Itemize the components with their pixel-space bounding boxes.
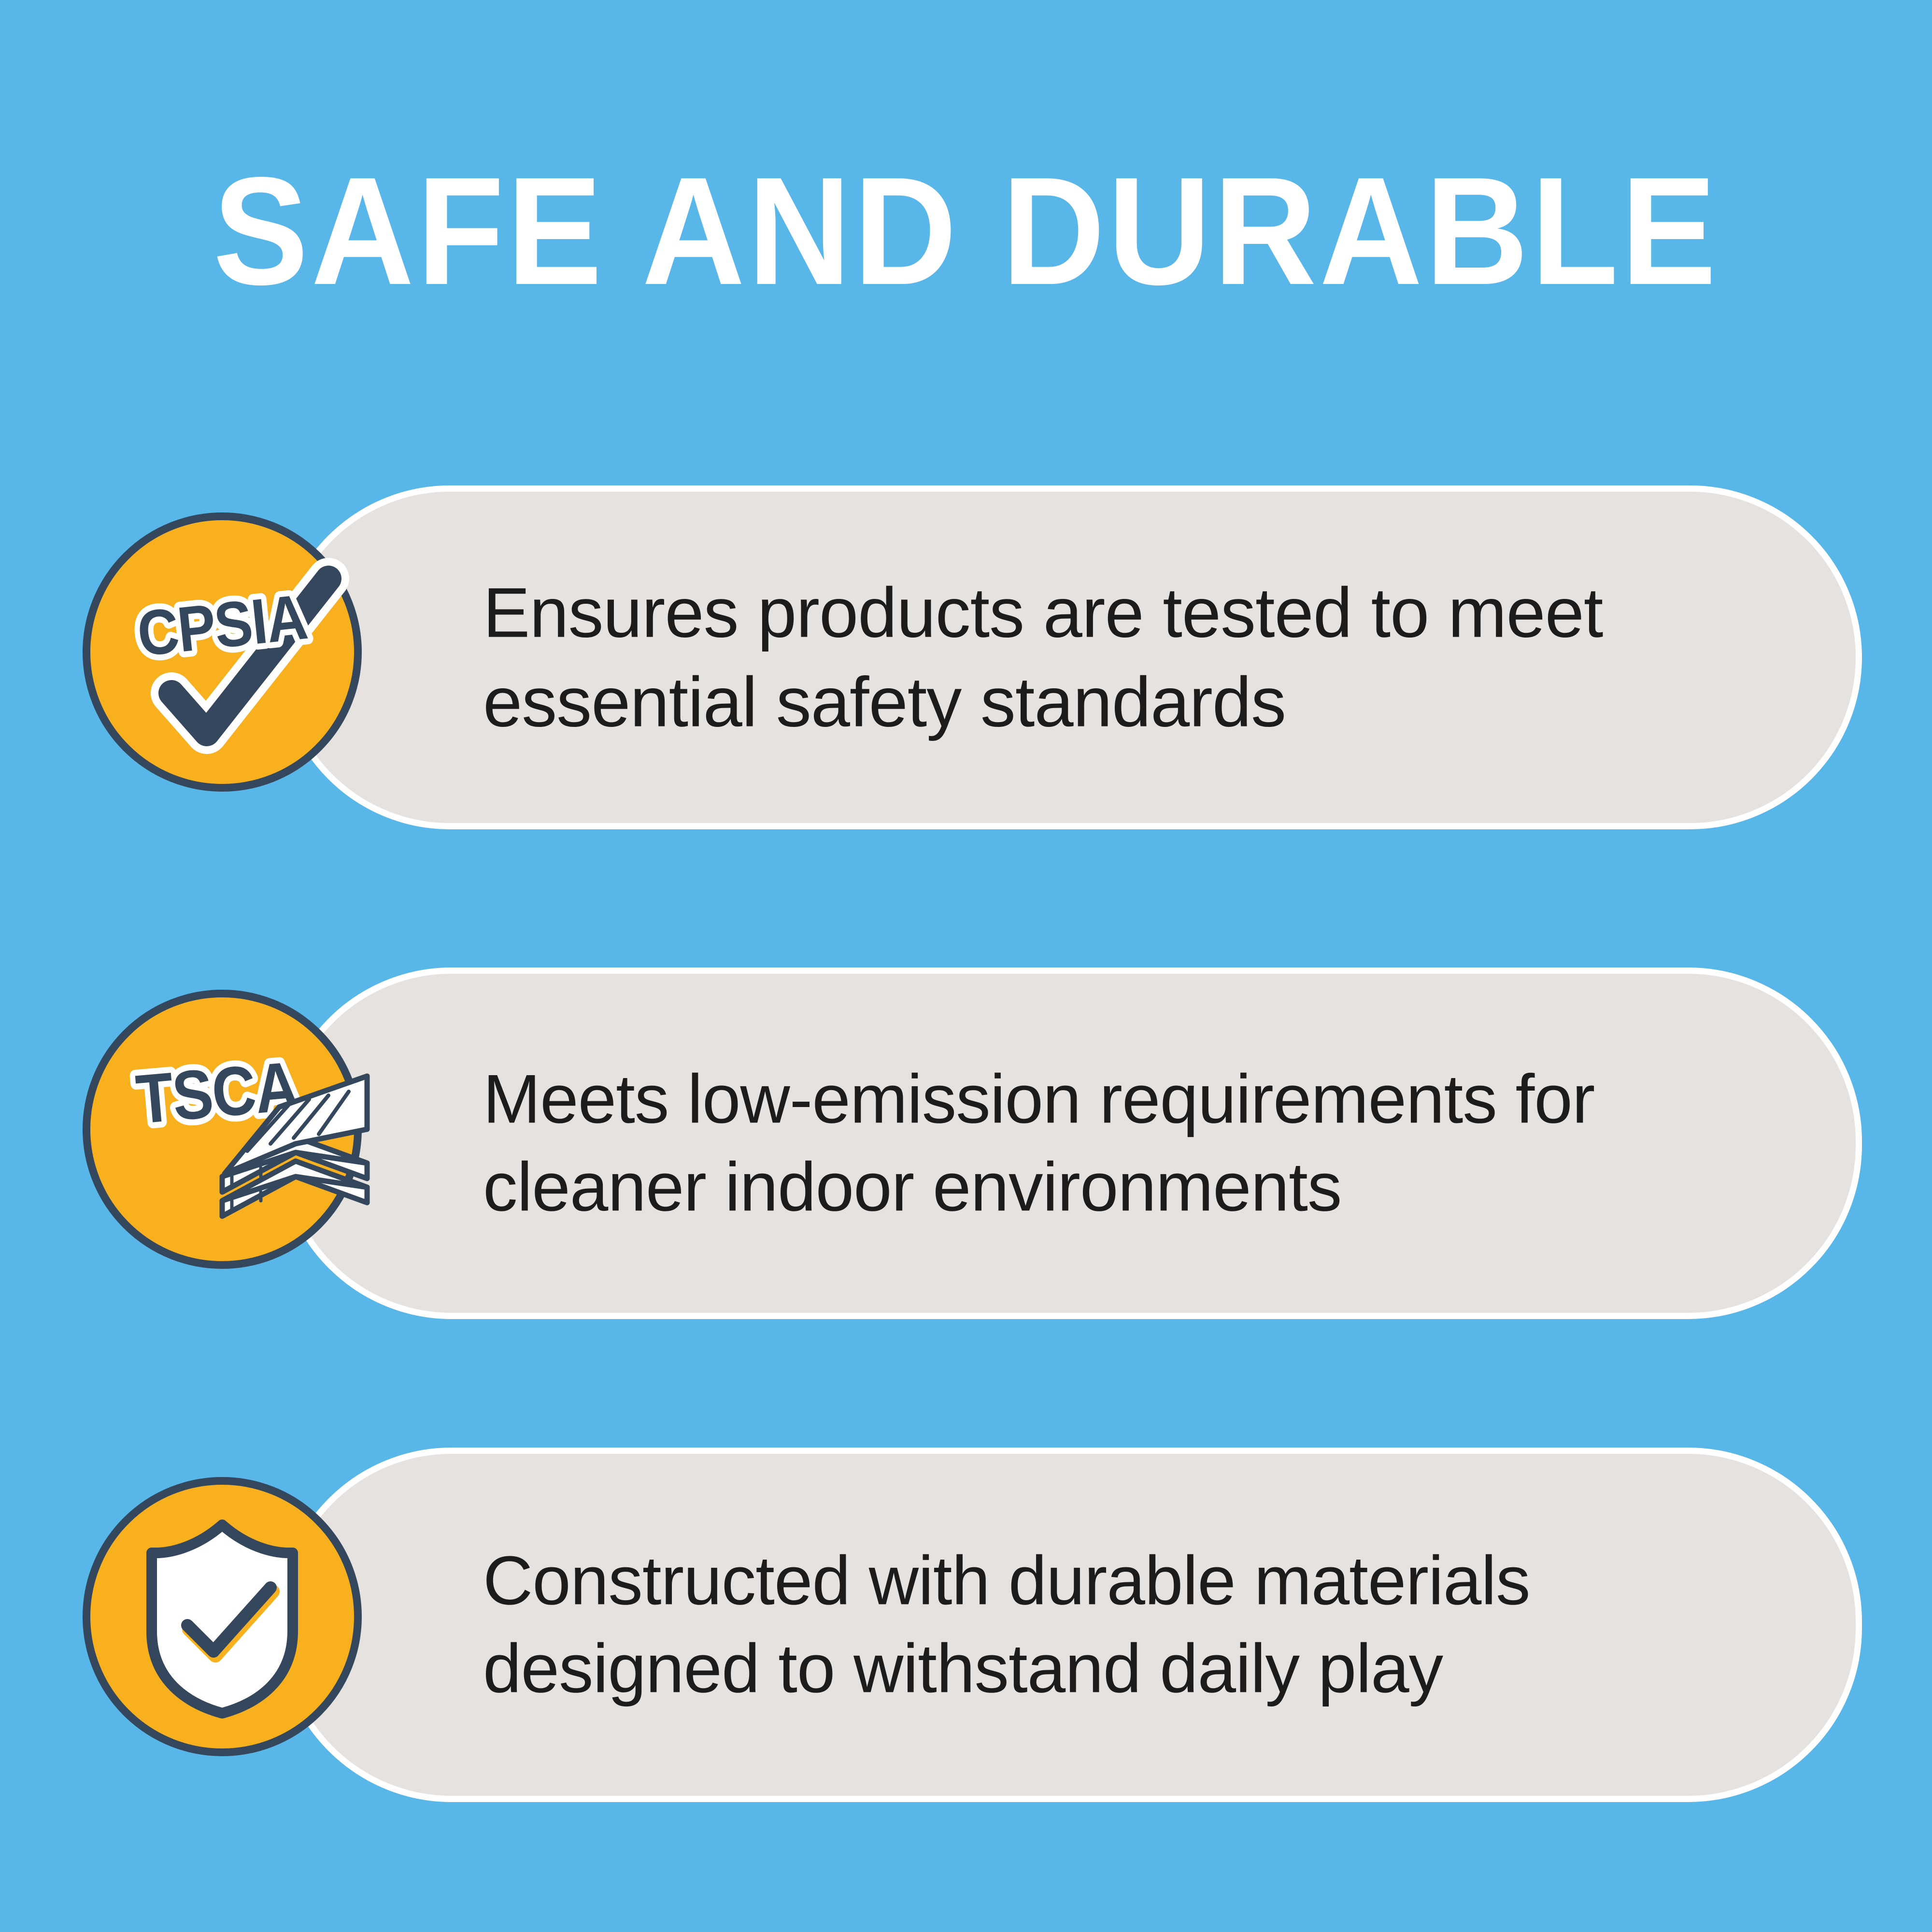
- feature-text: Constructed with durable materials desig…: [483, 1537, 1798, 1712]
- feature-text: Meets low-emission requirements for clea…: [483, 1055, 1798, 1231]
- feature-text: Ensures products are tested to meet esse…: [483, 568, 1798, 747]
- feature-list: Ensures products are tested to meet esse…: [0, 0, 1932, 1932]
- feature-row: Ensures products are tested to meet esse…: [0, 483, 1932, 831]
- infographic-root: SAFE AND DURABLE Ensures products are te…: [0, 0, 1932, 1932]
- tsca-lumber-stack-badge-icon: TSCA TSCA: [77, 984, 367, 1274]
- feature-row: Constructed with durable materials desig…: [0, 1445, 1932, 1803]
- feature-pill: Constructed with durable materials desig…: [278, 1448, 1862, 1802]
- feature-pill: Ensures products are tested to meet esse…: [278, 485, 1862, 829]
- cpsia-checkmark-badge-icon: CPSIA CPSIA: [77, 507, 367, 797]
- feature-row: Meets low-emission requirements for clea…: [0, 965, 1932, 1320]
- feature-pill: Meets low-emission requirements for clea…: [278, 967, 1862, 1319]
- shield-checkmark-badge-icon: [77, 1472, 367, 1762]
